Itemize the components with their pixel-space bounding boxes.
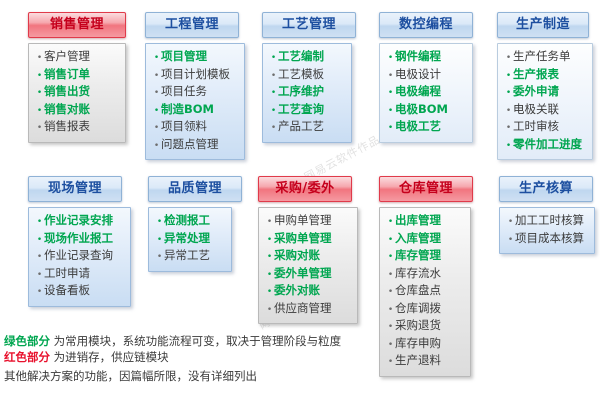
module-card-header-warehouse[interactable]: 仓库管理 bbox=[379, 176, 473, 202]
module-item[interactable]: •电极编程 bbox=[386, 84, 468, 102]
module-item[interactable]: •现场作业报工 bbox=[35, 231, 126, 249]
module-item[interactable]: •库存流水 bbox=[386, 266, 466, 284]
module-item[interactable]: •申购单管理 bbox=[265, 213, 353, 231]
bullet-icon: • bbox=[506, 233, 515, 249]
module-card-header-cnc[interactable]: 数控编程 bbox=[379, 12, 473, 38]
module-item-list-engineering: •项目管理•项目计划模板•项目任务•制造BOM•项目领料•问题点管理 bbox=[152, 49, 240, 154]
module-item[interactable]: •采购对账 bbox=[265, 248, 353, 266]
module-item-label: 库存流水 bbox=[395, 266, 441, 282]
module-item[interactable]: •电极工艺 bbox=[386, 119, 468, 137]
module-item-label: 申购单管理 bbox=[274, 213, 332, 229]
module-item-label: 销售出货 bbox=[44, 84, 90, 100]
legend-line-red: 红色部分 为进销存，供应链模块 bbox=[4, 350, 169, 365]
bullet-icon: • bbox=[386, 69, 395, 85]
module-item[interactable]: •检测报工 bbox=[155, 213, 227, 231]
legend-green-key: 绿色部分 bbox=[4, 334, 50, 348]
module-item[interactable]: •项目领料 bbox=[152, 119, 240, 137]
bullet-icon: • bbox=[265, 215, 274, 231]
module-card-manufacturing[interactable]: 生产制造•生产任务单•生产报表•委外申请•电极关联•工时审核•零件加工进度 bbox=[497, 12, 593, 160]
module-item[interactable]: •工时申请 bbox=[35, 266, 126, 284]
bullet-icon: • bbox=[386, 51, 395, 67]
bullet-icon: • bbox=[386, 338, 395, 354]
module-card-sales[interactable]: 销售管理•客户管理•销售订单•销售出货•销售对账•销售报表 bbox=[28, 12, 126, 143]
module-item-label: 销售订单 bbox=[44, 67, 90, 83]
module-item-list-cnc: •钢件编程•电极设计•电极编程•电极BOM•电极工艺 bbox=[386, 49, 468, 137]
module-card-header-shopfloor[interactable]: 现场管理 bbox=[28, 176, 122, 202]
legend-line-green: 绿色部分 为常用模块，系统功能流程可变，取决于管理阶段与粒度 bbox=[4, 334, 341, 349]
module-item-label: 销售对账 bbox=[44, 102, 90, 118]
module-map-board: 网易云软件作品 网易云软件作品 销售管理•客户管理•销售订单•销售出货•销售对账… bbox=[0, 0, 600, 400]
module-item-label: 电极工艺 bbox=[395, 119, 441, 135]
module-card-body-shopfloor: •作业记录安排•现场作业报工•作业记录查询•工时申请•设备看板 bbox=[28, 207, 131, 307]
module-item[interactable]: •出库管理 bbox=[386, 213, 466, 231]
module-item[interactable]: •制造BOM bbox=[152, 102, 240, 120]
module-item-label: 电极关联 bbox=[513, 102, 559, 118]
module-item-label: 销售报表 bbox=[44, 119, 90, 135]
module-item[interactable]: •仓库调拨 bbox=[386, 301, 466, 319]
module-item-list-costing: •加工工时核算•项目成本核算 bbox=[506, 213, 590, 248]
module-item-label: 采购退货 bbox=[395, 318, 441, 334]
module-item-label: 委外申请 bbox=[513, 84, 559, 100]
module-item-list-sales: •客户管理•销售订单•销售出货•销售对账•销售报表 bbox=[35, 49, 121, 137]
module-card-body-manufacturing: •生产任务单•生产报表•委外申请•电极关联•工时审核•零件加工进度 bbox=[497, 43, 593, 160]
module-item[interactable]: •委外单管理 bbox=[265, 266, 353, 284]
module-item-label: 制造BOM bbox=[161, 102, 214, 118]
bullet-icon: • bbox=[504, 104, 513, 120]
module-item-label: 产品工艺 bbox=[278, 119, 324, 135]
bullet-icon: • bbox=[504, 69, 513, 85]
module-item[interactable]: •作业记录安排 bbox=[35, 213, 126, 231]
module-card-header-purchasing[interactable]: 采购/委外 bbox=[258, 176, 352, 202]
module-card-engineering[interactable]: 工程管理•项目管理•项目计划模板•项目任务•制造BOM•项目领料•问题点管理 bbox=[145, 12, 245, 160]
bullet-icon: • bbox=[35, 215, 44, 231]
module-item[interactable]: •电极关联 bbox=[504, 102, 588, 120]
bullet-icon: • bbox=[35, 69, 44, 85]
module-item-list-manufacturing: •生产任务单•生产报表•委外申请•电极关联•工时审核•零件加工进度 bbox=[504, 49, 588, 154]
module-item[interactable]: •工艺模板 bbox=[269, 67, 347, 85]
module-item-label: 入库管理 bbox=[395, 231, 441, 247]
module-card-header-process[interactable]: 工艺管理 bbox=[262, 12, 356, 38]
legend-note-text: 其他解决方案的功能，因篇幅所限，没有详细列出 bbox=[4, 369, 257, 383]
module-item[interactable]: •工艺编制 bbox=[269, 49, 347, 67]
module-item-list-purchasing: •申购单管理•采购单管理•采购对账•委外单管理•委外对账•供应商管理 bbox=[265, 213, 353, 318]
module-item[interactable]: •项目成本核算 bbox=[506, 231, 590, 249]
module-item[interactable]: •库存管理 bbox=[386, 248, 466, 266]
module-item[interactable]: •销售报表 bbox=[35, 119, 121, 137]
bullet-icon: • bbox=[35, 268, 44, 284]
module-item-label: 电极BOM bbox=[395, 102, 448, 118]
module-item[interactable]: •零件加工进度 bbox=[504, 137, 588, 155]
module-item[interactable]: •问题点管理 bbox=[152, 137, 240, 155]
bullet-icon: • bbox=[152, 51, 161, 67]
module-item-label: 工序维护 bbox=[278, 84, 324, 100]
module-item-label: 库存申购 bbox=[395, 336, 441, 352]
module-card-body-process: •工艺编制•工艺模板•工序维护•工艺查询•产品工艺 bbox=[262, 43, 352, 143]
module-item[interactable]: •电极设计 bbox=[386, 67, 468, 85]
bullet-icon: • bbox=[265, 303, 274, 319]
module-item-label: 项目计划模板 bbox=[161, 67, 230, 83]
module-item-label: 项目管理 bbox=[161, 49, 207, 65]
module-item-label: 零件加工进度 bbox=[513, 137, 582, 153]
bullet-icon: • bbox=[152, 104, 161, 120]
module-item-label: 生产退料 bbox=[395, 353, 441, 369]
legend-red-text: 为进销存，供应链模块 bbox=[54, 350, 169, 364]
bullet-icon: • bbox=[265, 233, 274, 249]
module-item[interactable]: •库存申购 bbox=[386, 336, 466, 354]
module-card-header-engineering[interactable]: 工程管理 bbox=[145, 12, 239, 38]
module-item[interactable]: •作业记录查询 bbox=[35, 248, 126, 266]
bullet-icon: • bbox=[386, 86, 395, 102]
module-item-label: 电极设计 bbox=[395, 67, 441, 83]
bullet-icon: • bbox=[35, 250, 44, 266]
bullet-icon: • bbox=[269, 121, 278, 137]
module-card-body-sales: •客户管理•销售订单•销售出货•销售对账•销售报表 bbox=[28, 43, 126, 143]
module-item[interactable]: •客户管理 bbox=[35, 49, 121, 67]
module-card-body-costing: •加工工时核算•项目成本核算 bbox=[499, 207, 595, 254]
bullet-icon: • bbox=[504, 86, 513, 102]
module-item[interactable]: •采购单管理 bbox=[265, 231, 353, 249]
module-card-warehouse[interactable]: 仓库管理•出库管理•入库管理•库存管理•库存流水•仓库盘点•仓库调拨•采购退货•… bbox=[379, 176, 471, 377]
module-item-label: 工时审核 bbox=[513, 119, 559, 135]
module-item-label: 工艺模板 bbox=[278, 67, 324, 83]
bullet-icon: • bbox=[265, 268, 274, 284]
module-item-label: 生产任务单 bbox=[513, 49, 571, 65]
module-card-body-warehouse: •出库管理•入库管理•库存管理•库存流水•仓库盘点•仓库调拨•采购退货•库存申购… bbox=[379, 207, 471, 377]
bullet-icon: • bbox=[386, 121, 395, 137]
bullet-icon: • bbox=[386, 355, 395, 371]
module-item[interactable]: •异常工艺 bbox=[155, 248, 227, 266]
bullet-icon: • bbox=[504, 121, 513, 137]
module-item-label: 客户管理 bbox=[44, 49, 90, 65]
module-item-label: 钢件编程 bbox=[395, 49, 441, 65]
bullet-icon: • bbox=[386, 233, 395, 249]
module-item[interactable]: •销售出货 bbox=[35, 84, 121, 102]
module-card-process[interactable]: 工艺管理•工艺编制•工艺模板•工序维护•工艺查询•产品工艺 bbox=[262, 12, 352, 143]
module-item[interactable]: •入库管理 bbox=[386, 231, 466, 249]
bullet-icon: • bbox=[506, 215, 515, 231]
module-item-list-quality: •检测报工•异常处理•异常工艺 bbox=[155, 213, 227, 266]
module-item[interactable]: •产品工艺 bbox=[269, 119, 347, 137]
module-item-list-process: •工艺编制•工艺模板•工序维护•工艺查询•产品工艺 bbox=[269, 49, 347, 137]
bullet-icon: • bbox=[386, 285, 395, 301]
module-item-label: 委外单管理 bbox=[274, 266, 332, 282]
bullet-icon: • bbox=[35, 51, 44, 67]
module-card-purchasing[interactable]: 采购/委外•申购单管理•采购单管理•采购对账•委外单管理•委外对账•供应商管理 bbox=[258, 176, 358, 324]
module-item[interactable]: •采购退货 bbox=[386, 318, 466, 336]
module-item[interactable]: •电极BOM bbox=[386, 102, 468, 120]
bullet-icon: • bbox=[269, 51, 278, 67]
bullet-icon: • bbox=[386, 268, 395, 284]
module-item[interactable]: •项目任务 bbox=[152, 84, 240, 102]
module-item-label: 库存管理 bbox=[395, 248, 441, 264]
module-item-label: 作业记录查询 bbox=[44, 248, 113, 264]
module-item-label: 采购单管理 bbox=[274, 231, 332, 247]
module-card-header-costing[interactable]: 生产核算 bbox=[499, 176, 593, 202]
bullet-icon: • bbox=[35, 233, 44, 249]
module-item-list-warehouse: •出库管理•入库管理•库存管理•库存流水•仓库盘点•仓库调拨•采购退货•库存申购… bbox=[386, 213, 466, 371]
module-card-shopfloor[interactable]: 现场管理•作业记录安排•现场作业报工•作业记录查询•工时申请•设备看板 bbox=[28, 176, 131, 307]
bullet-icon: • bbox=[35, 121, 44, 137]
module-item-label: 工时申请 bbox=[44, 266, 90, 282]
module-item[interactable]: •仓库盘点 bbox=[386, 283, 466, 301]
bullet-icon: • bbox=[155, 233, 164, 249]
module-card-body-cnc: •钢件编程•电极设计•电极编程•电极BOM•电极工艺 bbox=[379, 43, 473, 143]
module-item-label: 加工工时核算 bbox=[515, 213, 584, 229]
module-item[interactable]: •工序维护 bbox=[269, 84, 347, 102]
legend-red-key: 红色部分 bbox=[4, 350, 50, 364]
module-item-label: 检测报工 bbox=[164, 213, 210, 229]
bullet-icon: • bbox=[35, 285, 44, 301]
bullet-icon: • bbox=[152, 139, 161, 155]
bullet-icon: • bbox=[269, 86, 278, 102]
module-item-label: 项目任务 bbox=[161, 84, 207, 100]
module-item-label: 工艺查询 bbox=[278, 102, 324, 118]
module-item[interactable]: •工时审核 bbox=[504, 119, 588, 137]
module-item[interactable]: •销售订单 bbox=[35, 67, 121, 85]
module-item-label: 电极编程 bbox=[395, 84, 441, 100]
module-item-label: 采购对账 bbox=[274, 248, 320, 264]
module-item-label: 工艺编制 bbox=[278, 49, 324, 65]
module-item[interactable]: •委外对账 bbox=[265, 283, 353, 301]
module-item[interactable]: •生产退料 bbox=[386, 353, 466, 371]
legend-line-note: 其他解决方案的功能，因篇幅所限，没有详细列出 bbox=[4, 369, 257, 384]
bullet-icon: • bbox=[386, 250, 395, 266]
module-card-body-quality: •检测报工•异常处理•异常工艺 bbox=[148, 207, 232, 272]
bullet-icon: • bbox=[152, 121, 161, 137]
module-item-label: 仓库调拨 bbox=[395, 301, 441, 317]
module-card-header-quality[interactable]: 品质管理 bbox=[148, 176, 242, 202]
module-item[interactable]: •项目计划模板 bbox=[152, 67, 240, 85]
bullet-icon: • bbox=[504, 139, 513, 155]
module-item-label: 供应商管理 bbox=[274, 301, 332, 317]
module-item-label: 问题点管理 bbox=[161, 137, 219, 153]
module-item[interactable]: •供应商管理 bbox=[265, 301, 353, 319]
module-item-label: 异常工艺 bbox=[164, 248, 210, 264]
module-item-label: 项目领料 bbox=[161, 119, 207, 135]
module-item-label: 异常处理 bbox=[164, 231, 210, 247]
module-item-label: 设备看板 bbox=[44, 283, 90, 299]
legend-green-text: 为常用模块，系统功能流程可变，取决于管理阶段与粒度 bbox=[54, 334, 342, 348]
module-item-label: 生产报表 bbox=[513, 67, 559, 83]
module-card-header-manufacturing[interactable]: 生产制造 bbox=[497, 12, 589, 38]
module-card-cnc[interactable]: 数控编程•钢件编程•电极设计•电极编程•电极BOM•电极工艺 bbox=[379, 12, 473, 143]
bullet-icon: • bbox=[386, 320, 395, 336]
bullet-icon: • bbox=[386, 215, 395, 231]
bullet-icon: • bbox=[386, 104, 395, 120]
module-item-label: 作业记录安排 bbox=[44, 213, 113, 229]
bullet-icon: • bbox=[152, 69, 161, 85]
bullet-icon: • bbox=[265, 285, 274, 301]
module-item-label: 仓库盘点 bbox=[395, 283, 441, 299]
module-card-body-engineering: •项目管理•项目计划模板•项目任务•制造BOM•项目领料•问题点管理 bbox=[145, 43, 245, 160]
module-item-label: 出库管理 bbox=[395, 213, 441, 229]
module-item[interactable]: •钢件编程 bbox=[386, 49, 468, 67]
bullet-icon: • bbox=[155, 250, 164, 266]
bullet-icon: • bbox=[269, 69, 278, 85]
bullet-icon: • bbox=[155, 215, 164, 231]
module-card-header-sales[interactable]: 销售管理 bbox=[28, 12, 126, 38]
module-card-costing[interactable]: 生产核算•加工工时核算•项目成本核算 bbox=[499, 176, 595, 254]
module-item[interactable]: •项目管理 bbox=[152, 49, 240, 67]
module-item-label: 项目成本核算 bbox=[515, 231, 584, 247]
module-item[interactable]: •异常处理 bbox=[155, 231, 227, 249]
module-item[interactable]: •销售对账 bbox=[35, 102, 121, 120]
bullet-icon: • bbox=[35, 86, 44, 102]
bullet-icon: • bbox=[35, 104, 44, 120]
module-item-list-shopfloor: •作业记录安排•现场作业报工•作业记录查询•工时申请•设备看板 bbox=[35, 213, 126, 301]
module-item[interactable]: •工艺查询 bbox=[269, 102, 347, 120]
module-item[interactable]: •生产任务单 bbox=[504, 49, 588, 67]
bullet-icon: • bbox=[269, 104, 278, 120]
module-card-quality[interactable]: 品质管理•检测报工•异常处理•异常工艺 bbox=[148, 176, 232, 272]
module-card-body-purchasing: •申购单管理•采购单管理•采购对账•委外单管理•委外对账•供应商管理 bbox=[258, 207, 358, 324]
bullet-icon: • bbox=[152, 86, 161, 102]
module-item-label: 现场作业报工 bbox=[44, 231, 113, 247]
bullet-icon: • bbox=[265, 250, 274, 266]
module-item[interactable]: •生产报表 bbox=[504, 67, 588, 85]
bullet-icon: • bbox=[504, 51, 513, 67]
module-item-label: 委外对账 bbox=[274, 283, 320, 299]
module-item[interactable]: •设备看板 bbox=[35, 283, 126, 301]
bullet-icon: • bbox=[386, 303, 395, 319]
module-item[interactable]: •加工工时核算 bbox=[506, 213, 590, 231]
module-item[interactable]: •委外申请 bbox=[504, 84, 588, 102]
